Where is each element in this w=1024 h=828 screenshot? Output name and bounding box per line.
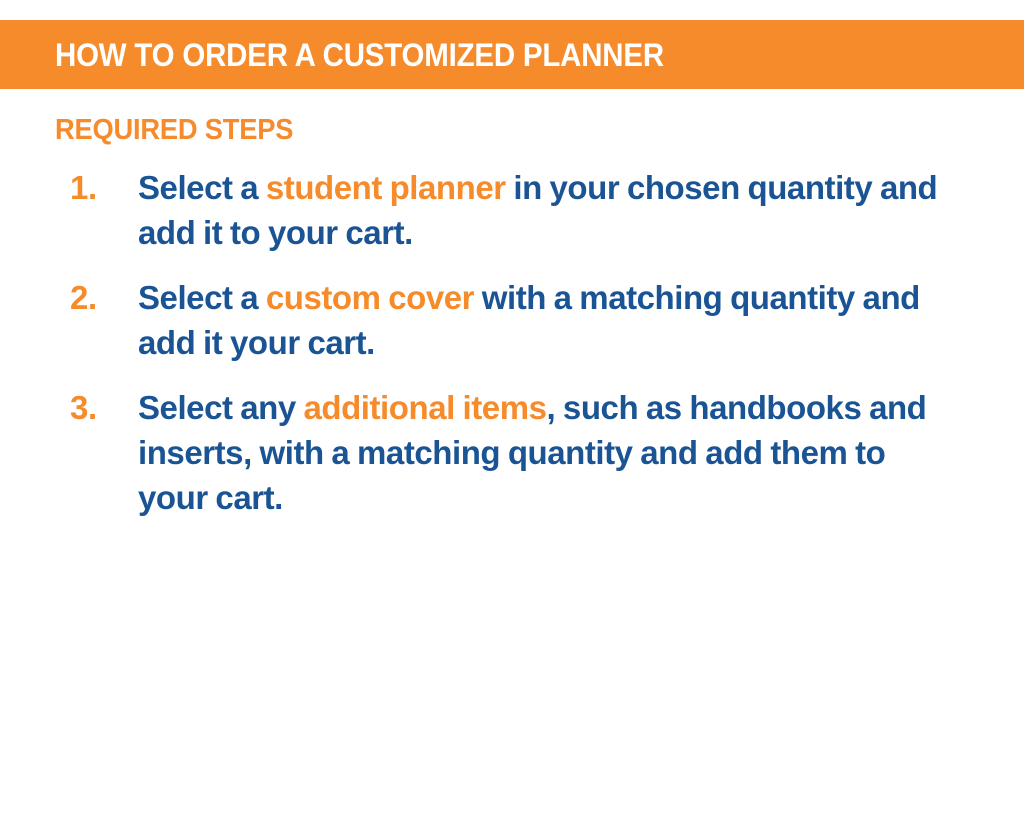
step-text-before: Select a <box>138 279 266 316</box>
step-highlight: custom cover <box>266 279 474 316</box>
list-item: 2. Select a custom cover with a matching… <box>70 275 969 365</box>
content-area: REQUIRED STEPS 1. Select a student plann… <box>0 89 1024 520</box>
step-highlight: additional items <box>303 389 546 426</box>
instruction-card: HOW TO ORDER A CUSTOMIZED PLANNER REQUIR… <box>0 0 1024 828</box>
step-number: 3. <box>70 385 138 430</box>
step-number: 1. <box>70 165 138 210</box>
step-text: Select any additional items, such as han… <box>138 385 938 520</box>
step-text: Select a custom cover with a matching qu… <box>138 275 938 365</box>
step-text-before: Select any <box>138 389 303 426</box>
section-heading-required-steps: REQUIRED STEPS <box>55 115 966 147</box>
required-steps-list: 1. Select a student planner in your chos… <box>0 165 1024 520</box>
step-number: 2. <box>70 275 138 320</box>
list-item: 3. Select any additional items, such as … <box>70 385 969 520</box>
step-highlight: student planner <box>266 169 506 206</box>
step-text: Select a student planner in your chosen … <box>138 165 938 255</box>
page-title: HOW TO ORDER A CUSTOMIZED PLANNER <box>55 39 664 71</box>
step-text-before: Select a <box>138 169 266 206</box>
list-item: 1. Select a student planner in your chos… <box>70 165 969 255</box>
header-banner: HOW TO ORDER A CUSTOMIZED PLANNER <box>0 20 1024 89</box>
